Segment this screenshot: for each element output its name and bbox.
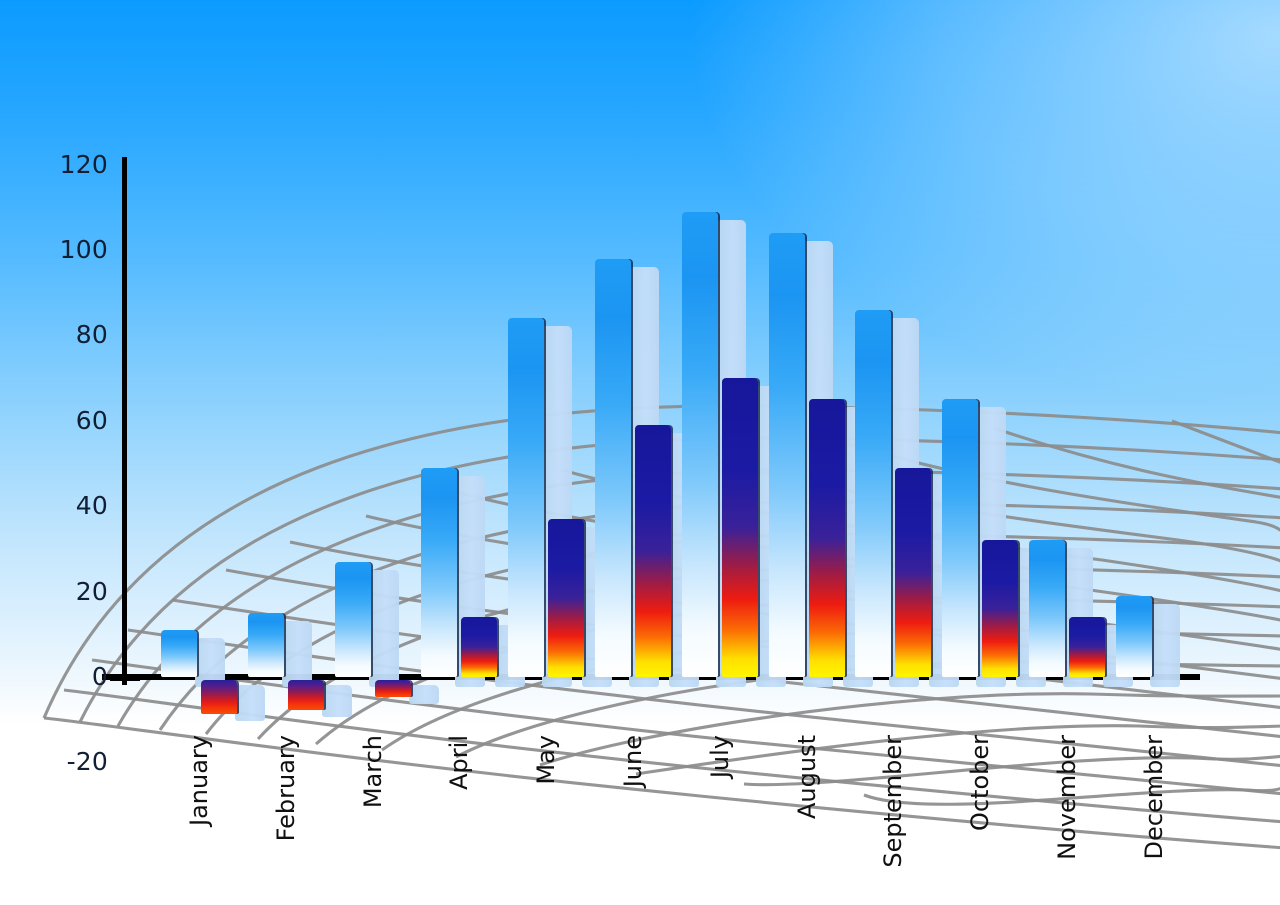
bar-series2[interactable] [548, 519, 584, 677]
bar-shadow [369, 570, 399, 687]
bar-shadow [409, 685, 439, 704]
bar-series2[interactable] [809, 399, 845, 677]
y-tick-mark-zero [110, 676, 140, 681]
bar-series2[interactable] [375, 680, 411, 697]
bar-series2[interactable] [1069, 617, 1105, 677]
bar-series1[interactable] [335, 562, 371, 677]
x-tick-label: April [445, 735, 473, 790]
bar-shadow [282, 621, 312, 687]
bar-series1[interactable] [855, 310, 891, 677]
x-tick-label: February [272, 735, 300, 841]
y-tick-label: 120 [0, 152, 108, 177]
y-tick-label: 0 [0, 664, 108, 689]
bar-shadow [235, 685, 265, 721]
bar-series2[interactable] [982, 540, 1018, 677]
bar-series2[interactable] [288, 680, 324, 710]
bar-series1[interactable] [769, 233, 805, 677]
x-tick-label: June [619, 735, 647, 787]
x-tick-label: July [706, 735, 734, 778]
chart-canvas: 120100806040200-20 JanuaryFebruaryMarchA… [0, 0, 1280, 905]
bar-series1[interactable] [161, 630, 197, 677]
bar-series1[interactable] [682, 212, 718, 677]
x-tick-label: August [793, 735, 821, 819]
bar-series2[interactable] [635, 425, 671, 677]
bar-series1[interactable] [421, 468, 457, 677]
bar-series1[interactable] [595, 259, 631, 677]
bar-shadow [322, 685, 352, 717]
y-tick-label: 20 [0, 579, 108, 604]
plot-area: 120100806040200-20 JanuaryFebruaryMarchA… [0, 0, 1280, 905]
x-tick-label: October [966, 735, 994, 831]
bar-series1[interactable] [1116, 596, 1152, 677]
x-tick-label: November [1053, 735, 1081, 860]
y-tick-label: -20 [0, 749, 108, 774]
x-tick-label: December [1140, 735, 1168, 859]
y-tick-label: 60 [0, 408, 108, 433]
x-tick-label: September [879, 735, 907, 868]
y-axis-line [122, 157, 127, 685]
bar-series1[interactable] [508, 318, 544, 677]
bar-series1[interactable] [248, 613, 284, 677]
y-tick-label: 40 [0, 493, 108, 518]
bar-series1[interactable] [942, 399, 978, 677]
bar-series2[interactable] [895, 468, 931, 677]
x-tick-label: January [185, 735, 213, 826]
y-tick-label: 80 [0, 322, 108, 347]
x-tick-label: May [532, 735, 560, 785]
bar-shadow [1150, 604, 1180, 687]
bar-series1[interactable] [1029, 540, 1065, 677]
bar-series2[interactable] [201, 680, 237, 714]
x-tick-label: March [359, 735, 387, 808]
bar-series2[interactable] [461, 617, 497, 677]
y-tick-label: 100 [0, 237, 108, 262]
bar-series2[interactable] [722, 378, 758, 677]
